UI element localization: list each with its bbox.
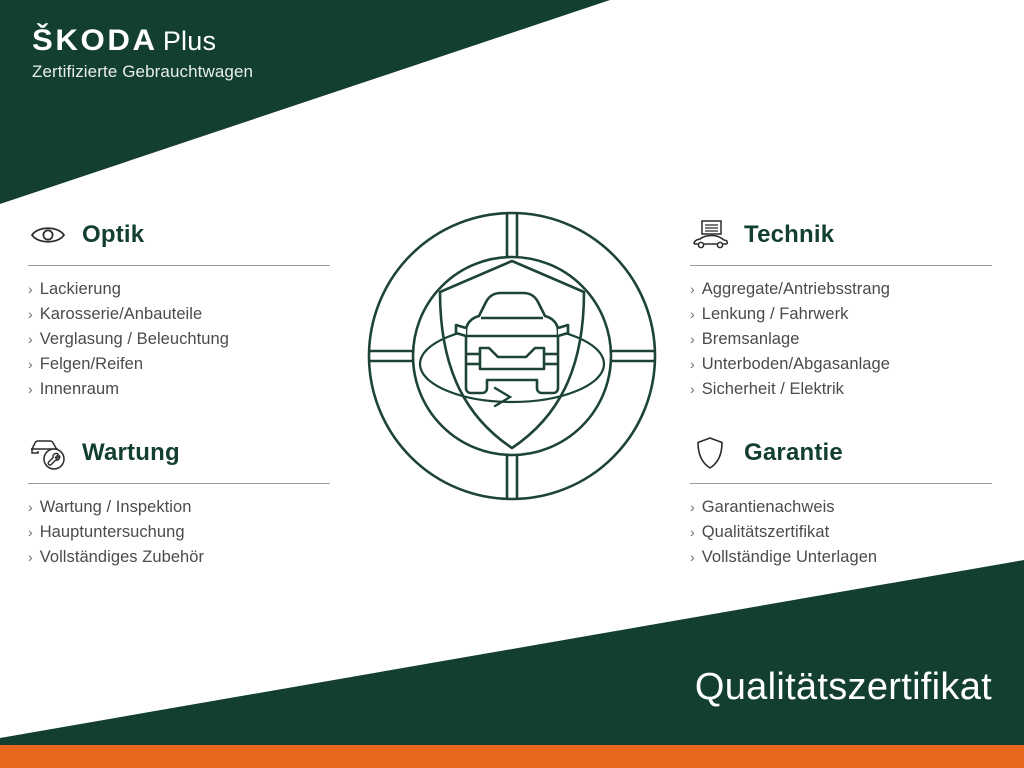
section-title: Garantie <box>744 441 843 465</box>
list-item: ›Vollständige Unterlagen <box>690 545 1020 570</box>
list-item-label: Qualitätszertifikat <box>702 520 830 545</box>
section-title: Technik <box>744 223 834 247</box>
certificate-page: ŠKODA Plus Zertifizierte Gebrauchtwagen … <box>0 0 1024 768</box>
car-document-icon <box>690 217 730 253</box>
list-item: ›Vollständiges Zubehör <box>28 545 358 570</box>
brand-subtitle: Zertifizierte Gebrauchtwagen <box>32 62 253 82</box>
section-item-list: ›Wartung / Inspektion ›Hauptuntersuchung… <box>28 495 358 570</box>
list-item-label: Lenkung / Fahrwerk <box>702 302 849 327</box>
list-item-label: Aggregate/Antriebsstrang <box>702 277 890 302</box>
list-item-label: Bremsanlage <box>702 327 800 352</box>
section-divider <box>28 483 330 484</box>
list-item-label: Wartung / Inspektion <box>40 495 192 520</box>
section-header: Optik <box>28 214 358 256</box>
orange-accent-bar <box>0 745 1024 768</box>
list-item: ›Wartung / Inspektion <box>28 495 358 520</box>
list-item: ›Felgen/Reifen <box>28 352 358 377</box>
chevron-icon: › <box>690 302 695 327</box>
list-item: ›Hauptuntersuchung <box>28 520 358 545</box>
list-item-label: Verglasung / Beleuchtung <box>40 327 229 352</box>
list-item-label: Unterboden/Abgasanlage <box>702 352 890 377</box>
chevron-icon: › <box>28 302 33 327</box>
chevron-icon: › <box>28 327 33 352</box>
chevron-icon: › <box>690 327 695 352</box>
chevron-icon: › <box>28 520 33 545</box>
section-optik: Optik ›Lackierung ›Karosserie/Anbauteile… <box>28 214 358 402</box>
list-item: ›Qualitätszertifikat <box>690 520 1020 545</box>
section-header: Technik <box>690 214 1020 256</box>
section-title: Wartung <box>82 441 180 465</box>
list-item: ›Lackierung <box>28 277 358 302</box>
section-item-list: ›Garantienachweis ›Qualitätszertifikat ›… <box>690 495 1020 570</box>
list-item: ›Karosserie/Anbauteile <box>28 302 358 327</box>
page-title: Qualitätszertifikat <box>695 668 992 706</box>
section-header: Garantie <box>690 432 1020 474</box>
chevron-icon: › <box>690 545 695 570</box>
skoda-wordmark: ŠKODA <box>32 26 158 56</box>
section-header: Wartung <box>28 432 358 474</box>
certified-vehicle-emblem <box>352 196 672 516</box>
list-item: ›Unterboden/Abgasanlage <box>690 352 1020 377</box>
list-item: ›Lenkung / Fahrwerk <box>690 302 1020 327</box>
section-title: Optik <box>82 223 144 247</box>
chevron-icon: › <box>690 352 695 377</box>
list-item: ›Aggregate/Antriebsstrang <box>690 277 1020 302</box>
list-item: ›Garantienachweis <box>690 495 1020 520</box>
chevron-icon: › <box>690 277 695 302</box>
list-item-label: Hauptuntersuchung <box>40 520 185 545</box>
car-wrench-icon <box>28 435 68 471</box>
eye-icon <box>28 217 68 253</box>
section-garantie: Garantie ›Garantienachweis ›Qualitätszer… <box>690 432 1020 570</box>
list-item-label: Karosserie/Anbauteile <box>40 302 202 327</box>
chevron-icon: › <box>28 495 33 520</box>
section-wartung: Wartung ›Wartung / Inspektion ›Hauptunte… <box>28 432 358 570</box>
section-divider <box>690 265 992 266</box>
list-item-label: Vollständiges Zubehör <box>40 545 204 570</box>
list-item-label: Innenraum <box>40 377 119 402</box>
list-item: ›Bremsanlage <box>690 327 1020 352</box>
plus-wordmark: Plus <box>163 28 216 55</box>
chevron-icon: › <box>690 495 695 520</box>
chevron-icon: › <box>28 545 33 570</box>
chevron-icon: › <box>690 520 695 545</box>
list-item-label: Vollständige Unterlagen <box>702 545 877 570</box>
list-item: ›Verglasung / Beleuchtung <box>28 327 358 352</box>
section-divider <box>690 483 992 484</box>
shield-icon <box>690 435 730 471</box>
list-item-label: Lackierung <box>40 277 121 302</box>
chevron-icon: › <box>28 377 33 402</box>
section-item-list: ›Lackierung ›Karosserie/Anbauteile ›Verg… <box>28 277 358 402</box>
brand-name-row: ŠKODA Plus <box>32 26 253 56</box>
section-divider <box>28 265 330 266</box>
section-technik: Technik ›Aggregate/Antriebsstrang ›Lenku… <box>690 214 1020 402</box>
brand-lockup: ŠKODA Plus Zertifizierte Gebrauchtwagen <box>32 26 253 82</box>
chevron-icon: › <box>28 277 33 302</box>
chevron-icon: › <box>690 377 695 402</box>
list-item-label: Garantienachweis <box>702 495 835 520</box>
list-item-label: Felgen/Reifen <box>40 352 143 377</box>
chevron-icon: › <box>28 352 33 377</box>
list-item: ›Sicherheit / Elektrik <box>690 377 1020 402</box>
list-item-label: Sicherheit / Elektrik <box>702 377 844 402</box>
section-item-list: ›Aggregate/Antriebsstrang ›Lenkung / Fah… <box>690 277 1020 402</box>
list-item: ›Innenraum <box>28 377 358 402</box>
